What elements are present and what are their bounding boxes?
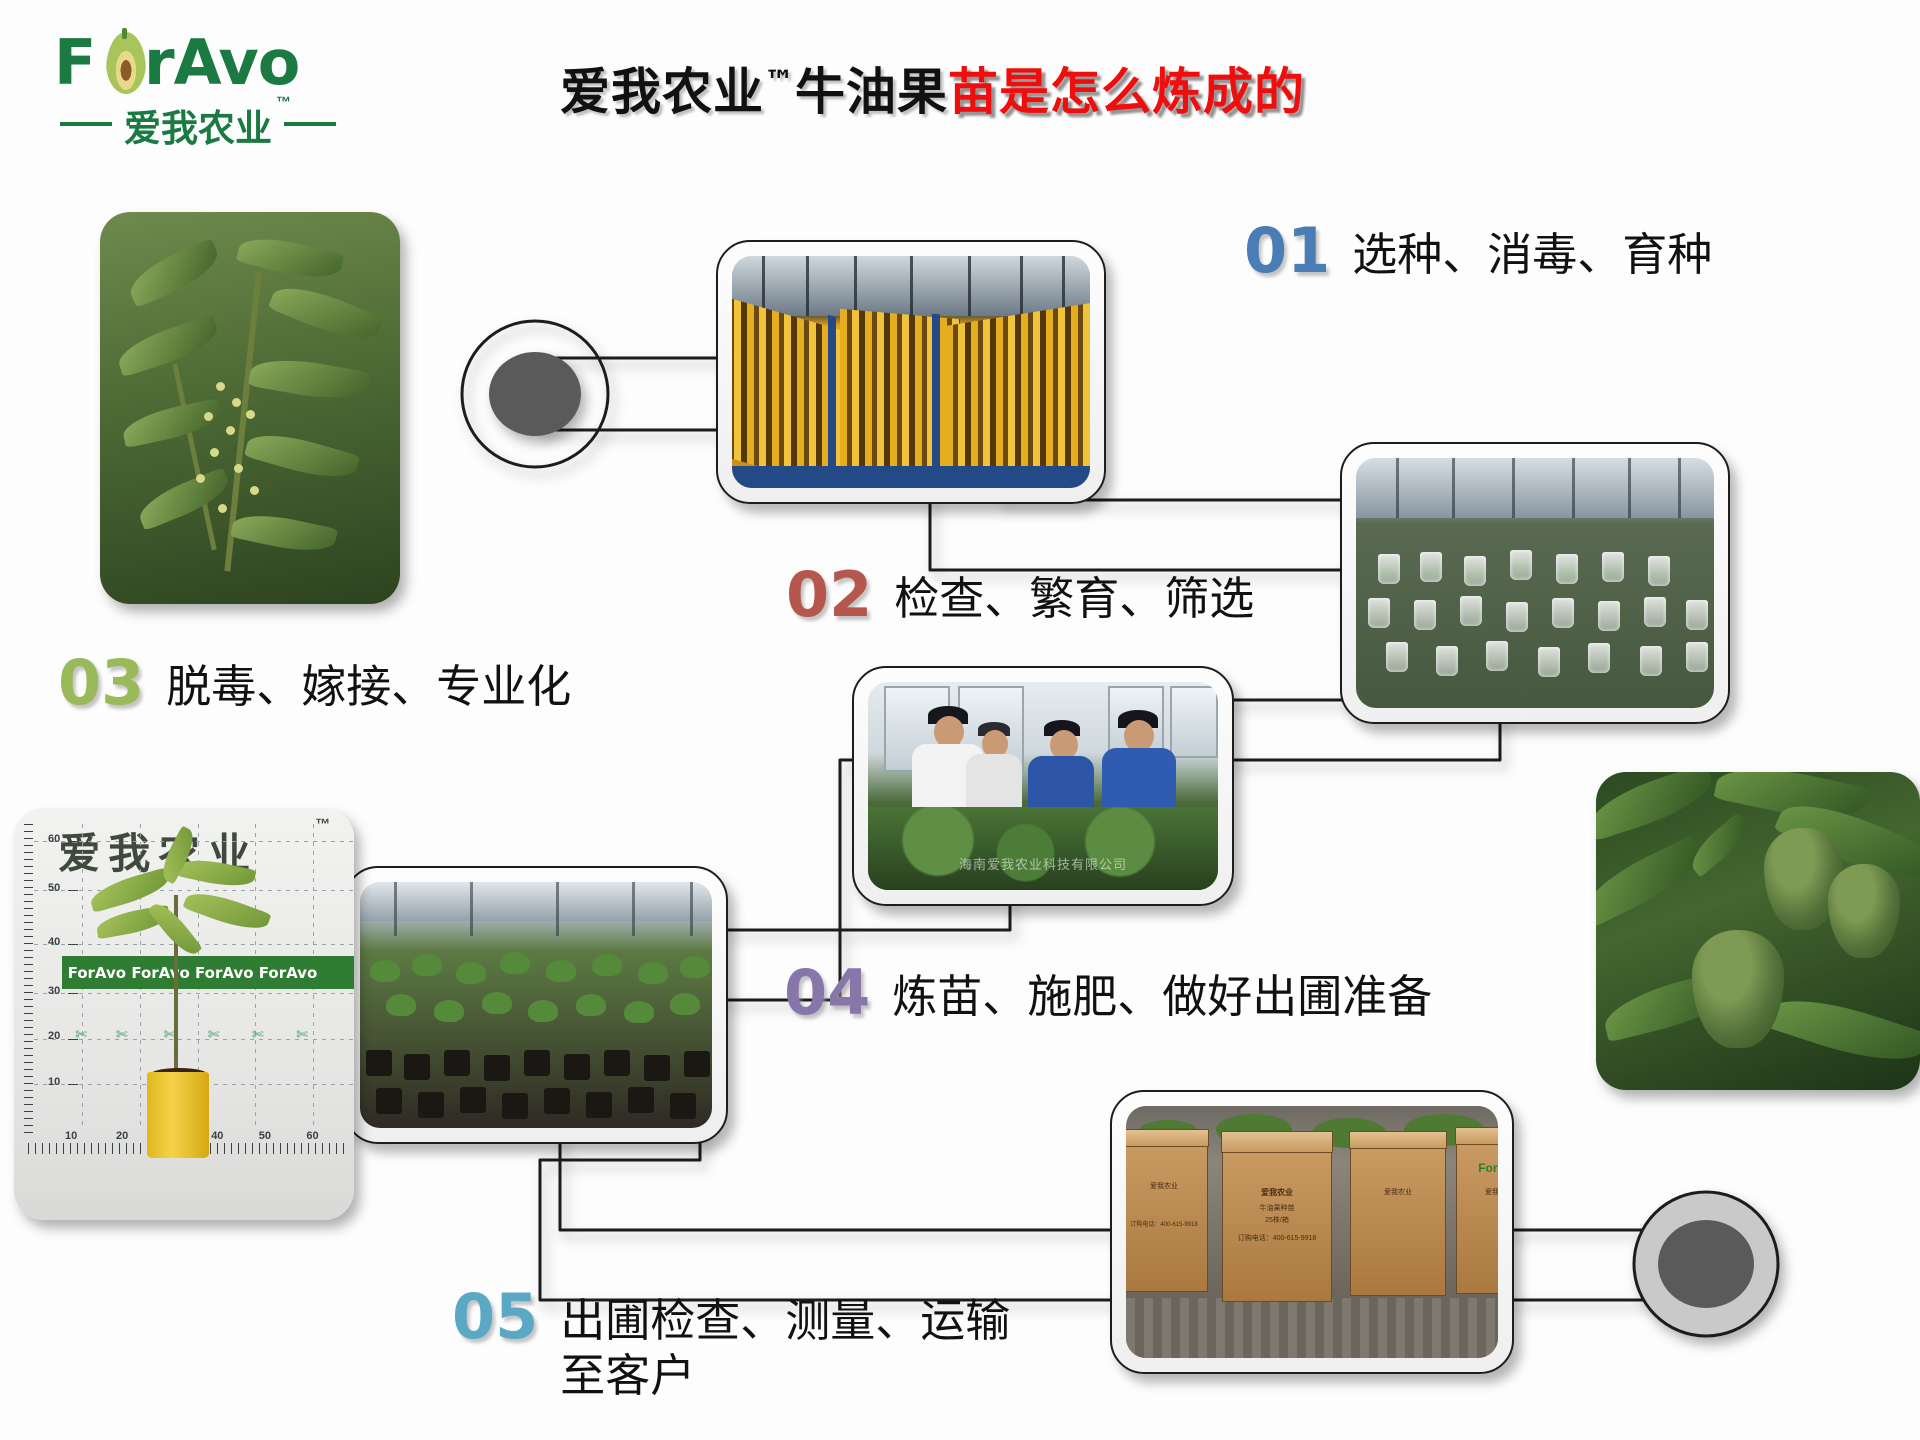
flow-start-marker [462,321,608,467]
flow-end-marker [1634,1192,1778,1336]
ruler-h-tick-10: 10 [65,1130,77,1142]
box-line3: 25株/箱 [1223,1215,1331,1225]
ruler-v-tick-40: 40 [48,936,60,948]
ruler-brand-band: ForAvo ForAvo ForAvo ForAvo [62,956,354,989]
box-brand-left: 爱我农业 [1126,1181,1207,1191]
packing-boxes-photo: 爱我农业 订购电话：400-615-9918 爱我农业 牛油果种苗 25株/箱 … [1110,1090,1514,1374]
ruler-v-tick-50: 50 [48,882,60,894]
step-01-number: 01 [1244,222,1330,281]
step-01: 01 选种、消毒、育种 [1244,222,1712,283]
infographic-canvas: F rAvo 爱我农业 ™ 爱我农业™牛油果苗是怎么炼成的 [0,0,1920,1440]
step-03-number: 03 [58,654,144,713]
step-02-number: 02 [786,566,872,625]
box-brand-mid: 爱我农业 [1351,1187,1445,1197]
step-04: 04 炼苗、施肥、做好出圃准备 [784,964,1432,1025]
ruler-band-text: ForAvo ForAvo ForAvo ForAvo [62,964,318,982]
step-01-text: 选种、消毒、育种 [1352,222,1712,283]
avocado-fruit-on-tree-photo [1596,772,1920,1090]
box-brand-right: 爱我农业 [1457,1187,1498,1197]
ruler-h-tick-50: 50 [259,1130,271,1142]
ruler-h-tick-20: 20 [116,1130,128,1142]
measured-seedling-ruler-photo: 爱我农业 ™ 60 50 40 30 20 1 [14,808,354,1220]
box-line2: 牛油果种苗 [1223,1203,1331,1213]
step-03: 03 脱毒、嫁接、专业化 [58,654,571,715]
potted-seedlings-nursery-photo [344,866,728,1144]
step-05: 05 出圃检查、测量、运输 至客户 [452,1288,1010,1404]
step-05-text-line1: 出圃检查、测量、运输 [560,1294,1010,1347]
box-brand-center: 爱我农业 [1223,1187,1331,1198]
box-logo-right: ForAvo [1457,1161,1498,1175]
step-04-text: 炼苗、施肥、做好出圃准备 [892,964,1432,1025]
ruler-v-tick-30: 30 [48,985,60,997]
staff-inspection-photo: 海南爱我农业科技有限公司 [852,666,1234,906]
photo-watermark: 海南爱我农业科技有限公司 [868,854,1218,873]
ruler-v-tick-60: 60 [48,833,60,845]
step-03-text: 脱毒、嫁接、专业化 [166,654,571,715]
step-05-text-line2: 至客户 [560,1349,1010,1404]
ruler-h-tick-60: 60 [306,1130,318,1142]
step-05-number: 05 [452,1288,538,1347]
ruler-v-tick-10: 10 [48,1076,60,1088]
step-02: 02 检查、繁育、筛选 [786,566,1254,627]
box-phone-left: 订购电话：400-615-9918 [1126,1219,1207,1228]
step-05-text-block: 出圃检查、测量、运输 至客户 [560,1288,1010,1404]
avocado-flowering-branch-photo [100,212,400,604]
step-04-number: 04 [784,964,870,1023]
step-02-text: 检查、繁育、筛选 [894,566,1254,627]
ruler-backdrop-tm: ™ [315,816,330,833]
greenhouse-seed-trays-photo [716,240,1106,504]
greenhouse-grafted-plants-photo [1340,442,1730,724]
box-phone-center: 订购电话：400-615-9918 [1223,1233,1331,1243]
ruler-h-tick-40: 40 [211,1130,223,1142]
ruler-v-tick-20: 20 [48,1030,60,1042]
